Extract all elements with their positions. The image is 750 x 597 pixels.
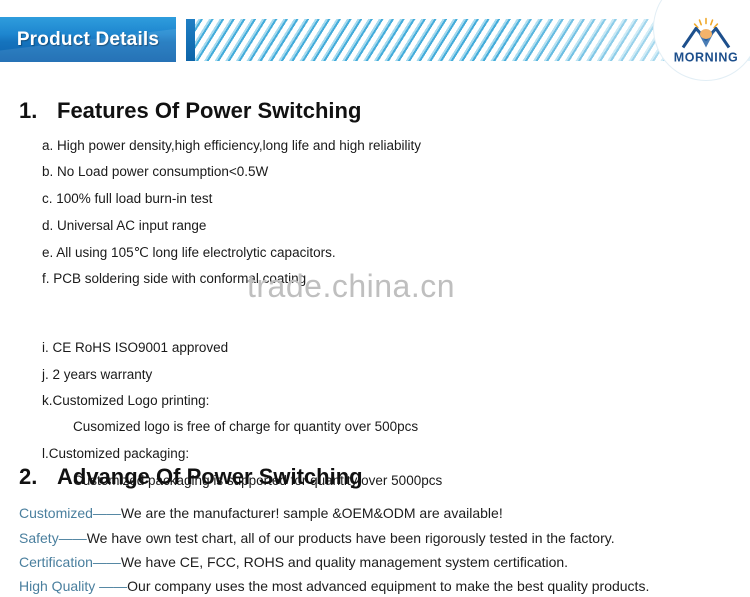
feature-text: CE RoHS ISO9001 approved bbox=[53, 340, 229, 355]
feature-marker: e. bbox=[42, 245, 53, 260]
company-logo: MORNING bbox=[654, 0, 750, 80]
feature-text: High power density,high efficiency,long … bbox=[57, 138, 421, 153]
feature-text: No Load power consumption<0.5W bbox=[57, 164, 268, 179]
product-details-tab-label: Product Details bbox=[0, 17, 176, 62]
logo-wordmark: MORNING bbox=[660, 51, 750, 65]
feature-text: Customized packaging: bbox=[49, 446, 189, 461]
mountain-sunrise-logo-icon bbox=[680, 18, 732, 50]
advantage-dash: —— bbox=[99, 578, 127, 594]
advantage-text: We have CE, FCC, ROHS and quality manage… bbox=[121, 554, 568, 570]
feature-item-a: a. High power density,high efficiency,lo… bbox=[42, 138, 421, 153]
advantage-dash: —— bbox=[93, 505, 121, 521]
section-number: 2. bbox=[19, 464, 57, 490]
advantage-item-customized: Customized——We are the manufacturer! sam… bbox=[19, 505, 503, 521]
feature-text: Customized Logo printing: bbox=[53, 393, 210, 408]
feature-text: All using 105℃ long life electrolytic ca… bbox=[56, 245, 335, 260]
page-header-banner: Product Details MORNING bbox=[0, 0, 750, 78]
watermark-text: trade.china.cn bbox=[247, 268, 455, 305]
advantage-keyword: Safety bbox=[19, 530, 59, 546]
feature-marker: d. bbox=[42, 218, 53, 233]
feature-marker: j. bbox=[42, 367, 49, 382]
tab-divider-bar bbox=[186, 19, 195, 61]
feature-item-j: j. 2 years warranty bbox=[42, 367, 152, 382]
section-heading-features: 1.Features Of Power Switching bbox=[19, 98, 361, 124]
feature-text: Universal AC input range bbox=[57, 218, 206, 233]
feature-marker: b. bbox=[42, 164, 53, 179]
feature-marker: k. bbox=[42, 393, 53, 408]
advantage-dash: —— bbox=[59, 530, 87, 546]
feature-item-e: e. All using 105℃ long life electrolytic… bbox=[42, 245, 336, 261]
advantage-text: Our company uses the most advanced equip… bbox=[127, 578, 649, 594]
advantage-keyword: Certification bbox=[19, 554, 93, 570]
feature-item-i: i. CE RoHS ISO9001 approved bbox=[42, 340, 228, 355]
advantage-keyword: Customized bbox=[19, 505, 93, 521]
advantage-dash: —— bbox=[93, 554, 121, 570]
advantage-item-safety: Safety——We have own test chart, all of o… bbox=[19, 530, 615, 546]
feature-marker: a. bbox=[42, 138, 53, 153]
feature-item-l: l.Customized packaging: bbox=[42, 446, 189, 461]
feature-subtext-logo-printing: Cusomized logo is free of charge for qua… bbox=[73, 419, 418, 434]
feature-marker: i. bbox=[42, 340, 49, 355]
feature-item-d: d. Universal AC input range bbox=[42, 218, 206, 233]
section-title: Features Of Power Switching bbox=[57, 98, 361, 123]
feature-text: 100% full load burn-in test bbox=[56, 191, 212, 206]
advantage-keyword: High Quality bbox=[19, 578, 99, 594]
feature-item-k: k.Customized Logo printing: bbox=[42, 393, 209, 408]
section-title: Advange Of Power Switching bbox=[57, 464, 363, 489]
advantage-item-certification: Certification——We have CE, FCC, ROHS and… bbox=[19, 554, 568, 570]
product-details-tab[interactable]: Product Details bbox=[0, 17, 176, 62]
advantage-item-high-quality: High Quality ——Our company uses the most… bbox=[19, 578, 649, 594]
section-heading-advantage: 2.Advange Of Power Switching bbox=[19, 464, 363, 490]
feature-item-c: c. 100% full load burn-in test bbox=[42, 191, 212, 206]
logo-inner-group: MORNING bbox=[660, 18, 750, 65]
feature-text: Cusomized logo is free of charge for qua… bbox=[73, 419, 418, 434]
advantage-text: We have own test chart, all of our produ… bbox=[87, 530, 615, 546]
feature-marker: l. bbox=[42, 446, 49, 461]
feature-marker: f. bbox=[42, 271, 50, 286]
feature-text: 2 years warranty bbox=[53, 367, 153, 382]
feature-marker: c. bbox=[42, 191, 53, 206]
section-number: 1. bbox=[19, 98, 57, 124]
feature-item-b: b. No Load power consumption<0.5W bbox=[42, 164, 268, 179]
advantage-text: We are the manufacturer! sample &OEM&ODM… bbox=[121, 505, 503, 521]
